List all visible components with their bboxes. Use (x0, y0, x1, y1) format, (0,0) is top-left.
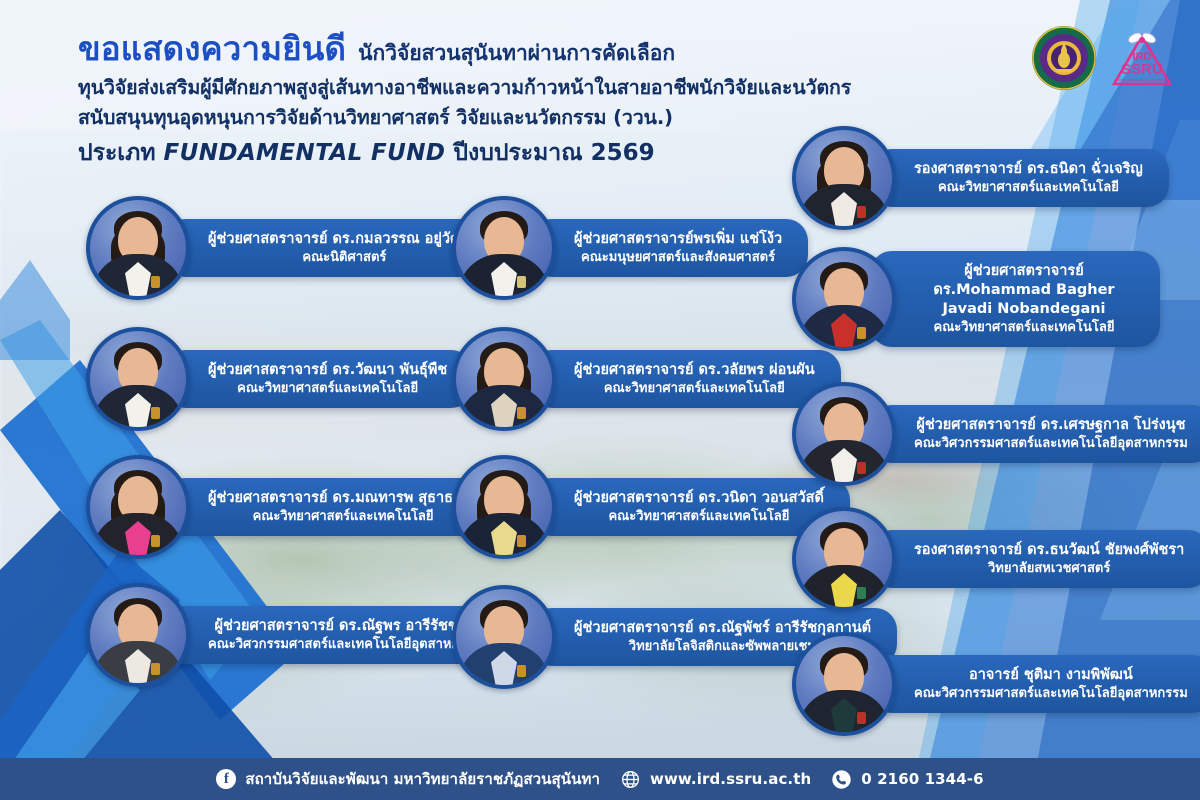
person-faculty: คณะวิศวกรรมศาสตร์และเทคโนโลยีอุตสาหกรรม (914, 685, 1188, 702)
person-name: ผู้ช่วยศาสตราจารย์พรเพิ่ม แช่โง้ว (574, 230, 782, 249)
footer-phone[interactable]: 0 2160 1344-6 (831, 769, 983, 790)
person-card[interactable]: ผู้ช่วยศาสตราจารย์ ดร.วนิดา วอนสวัสดิ์ ค… (452, 455, 850, 559)
header-line-3: สนับสนุนทุนอุดหนุนการวิจัยด้านวิทยาศาสตร… (78, 102, 673, 133)
avatar (792, 126, 896, 230)
footer-website-url: www.ird.ssru.ac.th (650, 770, 811, 788)
facebook-icon: f (216, 769, 236, 789)
phone-icon (831, 769, 852, 790)
person-faculty: คณะนิติศาสตร์ (208, 249, 481, 266)
avatar (86, 327, 190, 431)
avatar (792, 507, 896, 611)
fund-type-prefix: ประเภท (78, 140, 156, 166)
avatar (452, 585, 556, 689)
avatar (86, 196, 190, 300)
person-faculty: คณะวิศวกรรมศาสตร์และเทคโนโลยีอุตสาหกรรม (914, 435, 1188, 452)
fiscal-year: ปีงบประมาณ 2569 (453, 140, 654, 166)
title-subtitle-text: นักวิจัยสวนสุนันทาผ่านการคัดเลือก (358, 41, 675, 65)
footer-facebook-text: สถาบันวิจัยและพัฒนา มหาวิทยาลัยราชภัฏสวน… (245, 767, 600, 791)
avatar (86, 583, 190, 687)
logo-group: IRD SSRU (1030, 24, 1176, 92)
person-label: ผู้ช่วยศาสตราจารย์พรเพิ่ม แช่โง้ว คณะมนุ… (530, 219, 808, 277)
person-faculty: คณะวิทยาศาสตร์และเทคโนโลยี (574, 380, 815, 397)
person-faculty: วิทยาลัยสหเวชศาสตร์ (914, 560, 1184, 577)
footer-website[interactable]: www.ird.ssru.ac.th (620, 769, 811, 790)
avatar (452, 327, 556, 431)
person-name: อาจารย์ ชุติมา งามพิพัฒน์ (914, 666, 1188, 685)
person-faculty: คณะวิศวกรรมศาสตร์และเทคโนโลยีอุตสาหกรรม (208, 636, 482, 653)
person-card[interactable]: รองศาสตราจารย์ ดร.ธนวัฒน์ ชัยพงศ์พัชรา ว… (792, 507, 1200, 611)
avatar (452, 455, 556, 559)
person-faculty: คณะวิทยาศาสตร์และเทคโนโลยี (914, 179, 1143, 196)
person-faculty: คณะวิทยาศาสตร์และเทคโนโลยี (208, 380, 447, 397)
person-faculty: คณะมนุษยศาสตร์และสังคมศาสตร์ (574, 249, 782, 266)
poster-root: ขอแสดงความยินดีนักวิจัยสวนสุนันทาผ่านการ… (0, 0, 1200, 800)
person-name: ผู้ช่วยศาสตราจารย์ ดร.เศรษฐกาล โปร่งนุช (914, 416, 1188, 435)
person-faculty: คณะวิทยาศาสตร์และเทคโนโลยี (914, 319, 1134, 336)
person-faculty: คณะวิทยาศาสตร์และเทคโนโลยี (574, 508, 824, 525)
person-name: รองศาสตราจารย์ ดร.ธนิดา ฉั่วเจริญ (914, 160, 1143, 179)
person-card[interactable]: ผู้ช่วยศาสตราจารย์พรเพิ่ม แช่โง้ว คณะมนุ… (452, 196, 808, 300)
person-card[interactable]: ผู้ช่วยศาสตราจารย์ ดร.วลัยพร ผ่อนผัน คณะ… (452, 327, 841, 431)
person-label: ผู้ช่วยศาสตราจารย์ ดร.Mohammad Bagher Ja… (870, 251, 1160, 348)
person-card[interactable]: ผู้ช่วยศาสตราจารย์ ดร.วัฒนา พันธุ์พืช คณ… (86, 327, 473, 431)
person-card[interactable]: ผู้ช่วยศาสตราจารย์ ดร.กมลวรรณ อยู่วัฒนะ … (86, 196, 507, 300)
person-label: รองศาสตราจารย์ ดร.ธนวัฒน์ ชัยพงศ์พัชรา ว… (870, 530, 1200, 588)
person-name: ผู้ช่วยศาสตราจารย์ ดร.วลัยพร ผ่อนผัน (574, 361, 815, 380)
footer-facebook[interactable]: f สถาบันวิจัยและพัฒนา มหาวิทยาลัยราชภัฏส… (216, 767, 600, 791)
footer-bar: f สถาบันวิจัยและพัฒนา มหาวิทยาลัยราชภัฏส… (0, 758, 1200, 800)
person-name: ผู้ช่วยศาสตราจารย์ ดร.วัฒนา พันธุ์พืช (208, 361, 447, 380)
person-card[interactable]: อาจารย์ ชุติมา งามพิพัฒน์ คณะวิศวกรรมศาส… (792, 632, 1200, 736)
person-card[interactable]: ผู้ช่วยศาสตราจารย์ ดร.ณัฐพร อารีรัชชกุล … (86, 583, 508, 687)
header-line-2: ทุนวิจัยส่งเสริมผู้มีศักยภาพสูงสู่เส้นทา… (78, 72, 851, 103)
person-name: รองศาสตราจารย์ ดร.ธนวัฒน์ ชัยพงศ์พัชรา (914, 541, 1184, 560)
page-title: ขอแสดงความยินดีนักวิจัยสวนสุนันทาผ่านการ… (78, 22, 675, 75)
person-label: รองศาสตราจารย์ ดร.ธนิดา ฉั่วเจริญ คณะวิท… (870, 149, 1169, 207)
avatar (792, 382, 896, 486)
avatar (86, 455, 190, 559)
person-faculty: คณะวิทยาศาสตร์และเทคโนโลยี (208, 508, 478, 525)
ssru-university-seal-icon (1030, 24, 1098, 92)
ird-ssru-logo-icon: IRD SSRU (1108, 24, 1176, 92)
person-name: ผู้ช่วยศาสตราจารย์ ดร.Mohammad Bagher Ja… (914, 262, 1134, 319)
avatar (792, 632, 896, 736)
fund-name: FUNDAMENTAL FUND (164, 140, 446, 166)
avatar (792, 247, 896, 351)
svg-text:SSRU: SSRU (1121, 61, 1163, 78)
person-name: ผู้ช่วยศาสตราจารย์ ดร.กมลวรรณ อยู่วัฒนะ (208, 230, 481, 249)
person-name: ผู้ช่วยศาสตราจารย์ ดร.วนิดา วอนสวัสดิ์ (574, 489, 824, 508)
person-label: ผู้ช่วยศาสตราจารย์ ดร.วัฒนา พันธุ์พืช คณ… (164, 350, 473, 408)
person-card[interactable]: ผู้ช่วยศาสตราจารย์ ดร.เศรษฐกาล โปร่งนุช … (792, 382, 1200, 486)
footer-phone-number: 0 2160 1344-6 (861, 770, 983, 788)
title-main-text: ขอแสดงความยินดี (78, 29, 346, 68)
globe-icon (620, 769, 641, 790)
person-label: อาจารย์ ชุติมา งามพิพัฒน์ คณะวิศวกรรมศาส… (870, 655, 1200, 713)
person-card[interactable]: ผู้ช่วยศาสตราจารย์ ดร.มณทารพ สุธาธรรม คณ… (86, 455, 504, 559)
person-name: ผู้ช่วยศาสตราจารย์ ดร.ณัฐพร อารีรัชชกุล (208, 617, 482, 636)
person-card[interactable]: ผู้ช่วยศาสตราจารย์ ดร.Mohammad Bagher Ja… (792, 247, 1160, 351)
header-line-4: ประเภท FUNDAMENTAL FUND ปีงบประมาณ 2569 (78, 135, 655, 171)
person-label: ผู้ช่วยศาสตราจารย์ ดร.เศรษฐกาล โปร่งนุช … (870, 405, 1200, 463)
avatar (452, 196, 556, 300)
person-card[interactable]: รองศาสตราจารย์ ดร.ธนิดา ฉั่วเจริญ คณะวิท… (792, 126, 1169, 230)
person-name: ผู้ช่วยศาสตราจารย์ ดร.มณทารพ สุธาธรรม (208, 489, 478, 508)
